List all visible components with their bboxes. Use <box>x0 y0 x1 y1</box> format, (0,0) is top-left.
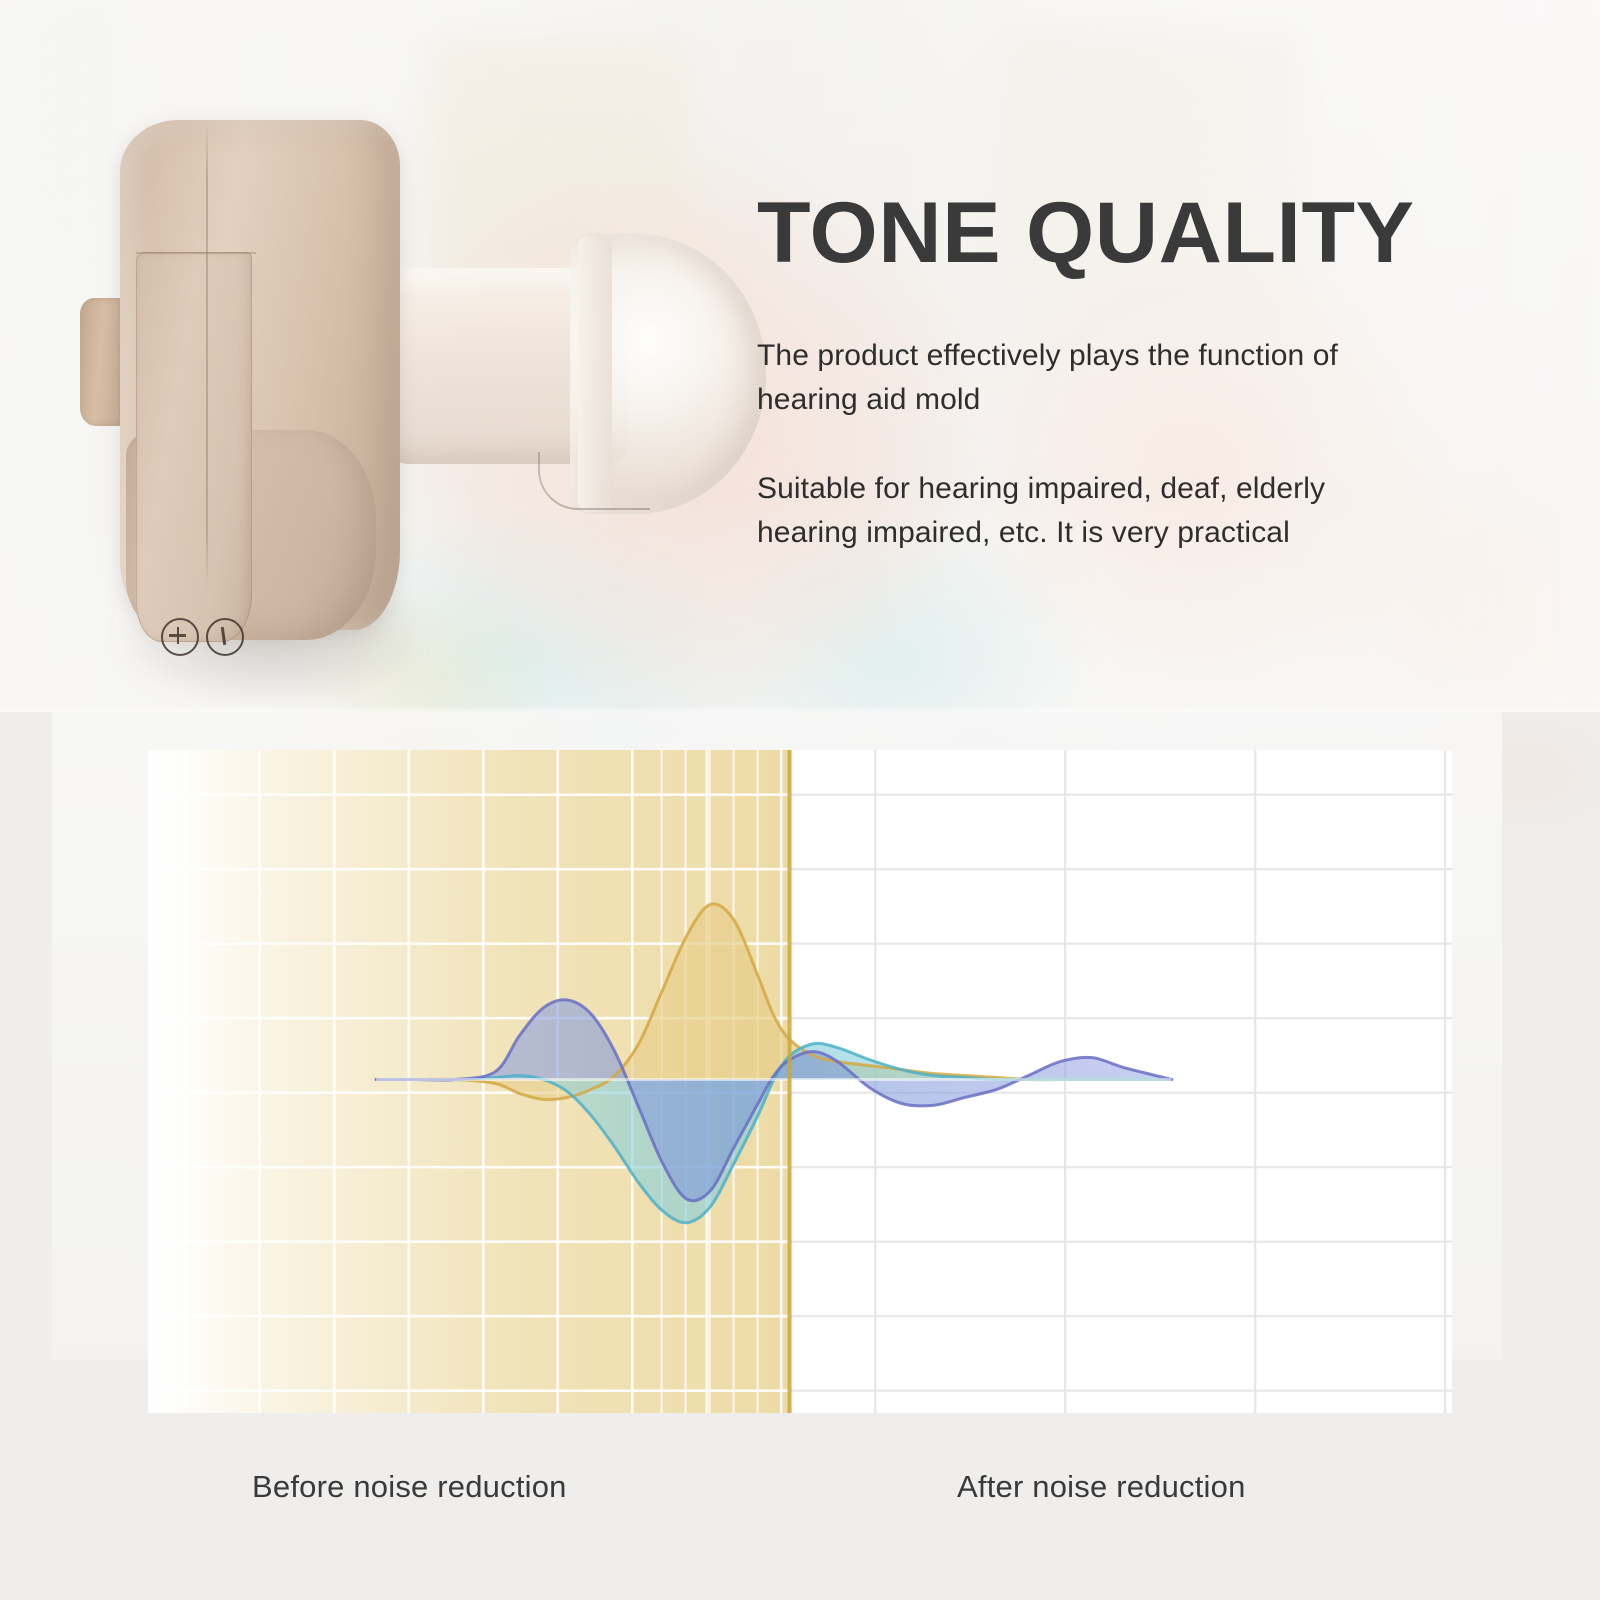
header-paragraph-2: Suitable for hearing impaired, deaf, eld… <box>757 467 1417 556</box>
hearing-aid-product-image <box>30 100 750 680</box>
shell-seam-vertical <box>206 122 208 592</box>
power-icon <box>206 618 244 656</box>
noise-reduction-section: Before noise reduction After noise reduc… <box>0 712 1600 1600</box>
volume-up-icon <box>161 618 199 656</box>
retrieval-wire <box>538 452 650 510</box>
page-title: TONE QUALITY <box>757 190 1573 276</box>
header-photo-band: TONE QUALITY The product effectively pla… <box>0 0 1600 712</box>
battery-door-tab <box>80 298 124 426</box>
shell-seam-horizontal <box>136 252 256 254</box>
header-text-column: TONE QUALITY The product effectively pla… <box>757 190 1557 556</box>
product-marketing-image: TONE QUALITY The product effectively pla… <box>0 0 1600 1600</box>
waveform-chart-panel <box>148 750 1452 1413</box>
caption-after: After noise reduction <box>957 1469 1246 1505</box>
header-paragraph-1: The product effectively plays the functi… <box>757 334 1417 423</box>
waveform-chart <box>148 750 1452 1413</box>
battery-door-panel <box>136 252 252 642</box>
caption-before: Before noise reduction <box>252 1469 567 1505</box>
